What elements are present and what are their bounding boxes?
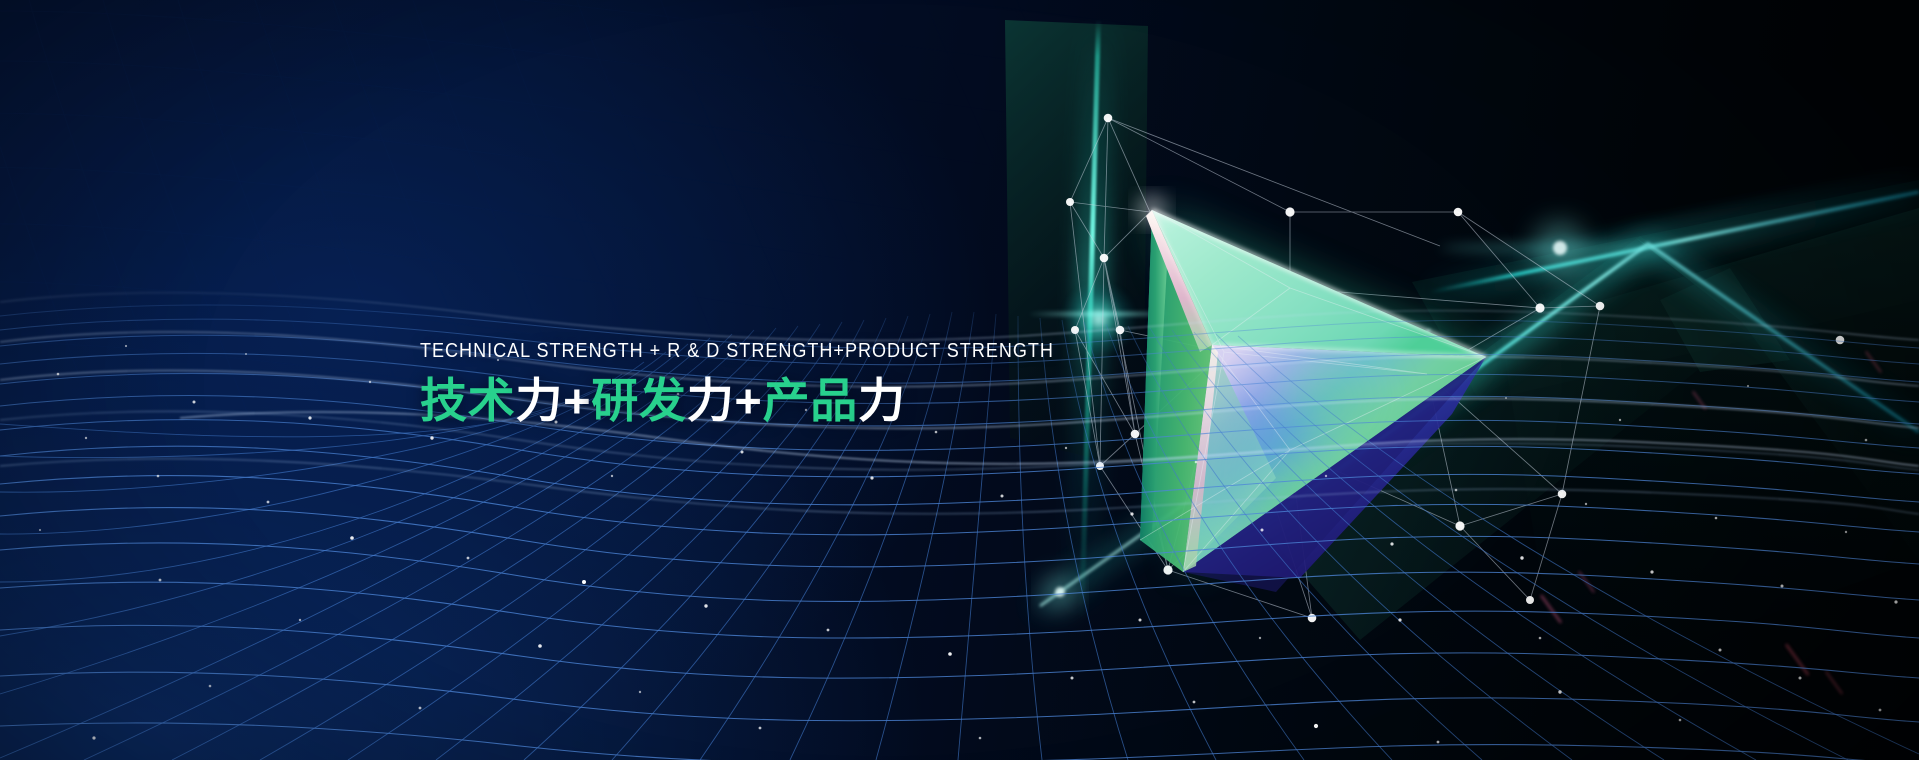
beam-flare-streak: [1028, 312, 1178, 316]
hero-text-block: TECHNICAL STRENGTH + R & D STRENGTH+PROD…: [420, 338, 1140, 429]
headline-part-3: 研发: [591, 374, 686, 427]
headline-part-6: 力: [858, 374, 906, 427]
eyebrow-text: TECHNICAL STRENGTH + R & D STRENGTH+PROD…: [420, 338, 1054, 364]
hero-banner: TECHNICAL STRENGTH + R & D STRENGTH+PROD…: [0, 0, 1919, 760]
headline-part-1: 技术: [420, 374, 515, 427]
headline-part-4: 力+: [687, 374, 763, 427]
headline-text: 技术力+研发力+产品力: [420, 373, 1140, 429]
headline-part-2: 力+: [515, 374, 591, 427]
headline-part-5: 产品: [763, 374, 858, 427]
